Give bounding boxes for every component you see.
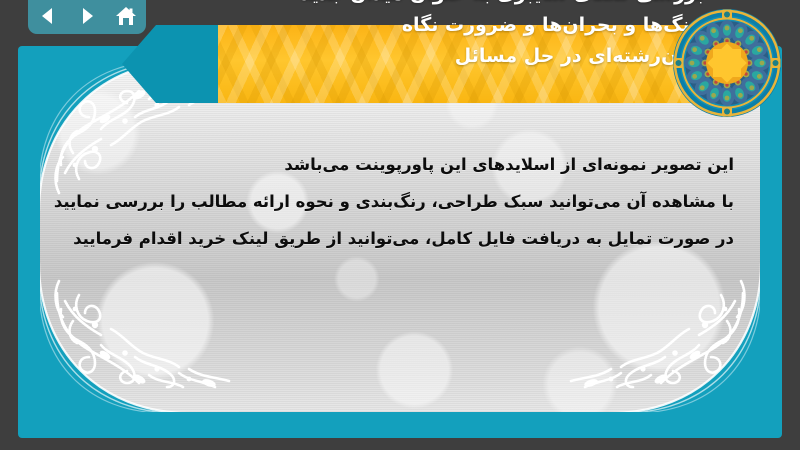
slide-panel: این تصویر نمونه‌ای از اسلایدهای این پاور… bbox=[18, 46, 782, 438]
title-line-2: جنگ‌ها و بحران‌ها و ضرورت نگاه bbox=[144, 10, 704, 41]
title-line-1: بررسی فضای سایبری به عنوان میدان جدید bbox=[144, 0, 704, 10]
corner-ornament-bottom-left-icon bbox=[40, 263, 239, 412]
slide-title: بررسی فضای سایبری به عنوان میدان جدید جن… bbox=[144, 0, 704, 72]
body-line-1: این تصویر نمونه‌ای از اسلایدهای این پاور… bbox=[40, 146, 734, 183]
forward-button[interactable] bbox=[74, 3, 100, 29]
slide-body-text: این تصویر نمونه‌ای از اسلایدهای این پاور… bbox=[40, 146, 734, 257]
body-line-2: با مشاهده آن می‌توانید سبک طراحی، رنگ‌بن… bbox=[40, 183, 734, 220]
back-button[interactable] bbox=[35, 3, 61, 29]
home-button[interactable] bbox=[113, 3, 139, 29]
title-line-3: میان‌رشته‌ای در حل مسائل bbox=[144, 41, 704, 72]
body-line-3: در صورت تمایل به دریافت فایل کامل، می‌تو… bbox=[40, 220, 734, 257]
corner-ornament-bottom-right-icon bbox=[561, 263, 760, 412]
slide-content-area: این تصویر نمونه‌ای از اسلایدهای این پاور… bbox=[40, 62, 760, 412]
navigation-bar bbox=[28, 0, 146, 34]
persian-mandala-medallion-icon bbox=[672, 8, 782, 118]
slide-viewer: این تصویر نمونه‌ای از اسلایدهای این پاور… bbox=[0, 0, 800, 450]
